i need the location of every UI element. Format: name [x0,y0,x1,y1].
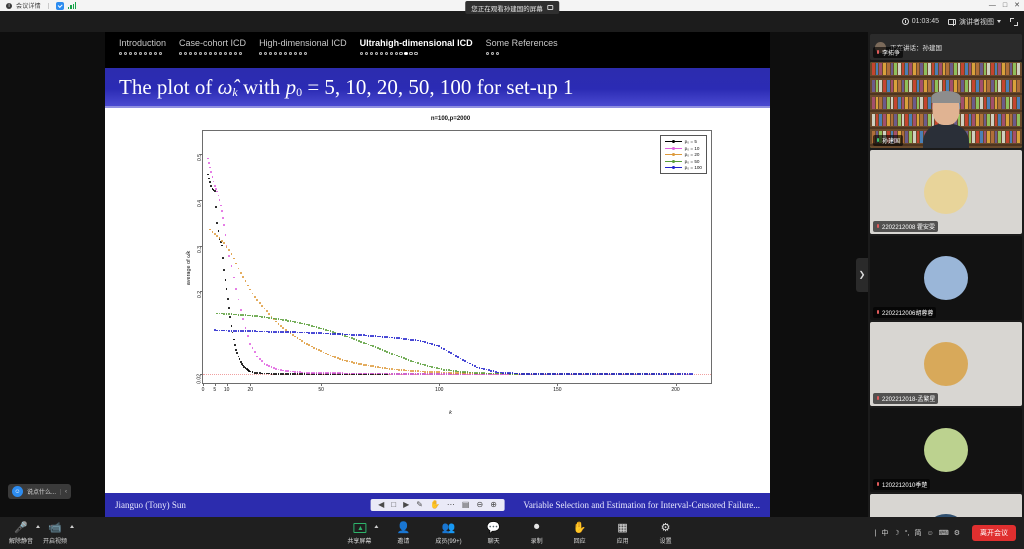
nav-dot[interactable] [404,52,407,55]
slide-body: n=100,p=2000 average of ω̂k k p₀ = 5p₀ =… [105,108,770,517]
data-point [405,338,407,340]
data-point [386,336,388,338]
x-tick-mark [676,383,677,386]
participant-tile[interactable]: 2202212008 霍安雯 [870,150,1022,234]
data-point [687,373,689,375]
microphone-muted-icon: 🎤 [14,521,28,534]
data-point [639,373,641,375]
data-point [301,332,303,334]
ime-punctuation[interactable]: °, [905,530,910,537]
nav-dot[interactable] [380,52,383,55]
data-point [320,332,322,334]
data-point [342,333,344,335]
notification-text: 您正在观看孙建国的屏幕 [471,3,543,13]
stop-show-button[interactable]: □ [391,501,396,509]
reaction-input-pill[interactable]: ☺ 说点什么... ‹ [8,484,71,499]
nav-section-0[interactable]: Introduction [105,38,166,55]
toolbar-reactions-button[interactable]: ✋回应 [569,521,591,545]
nav-section-4[interactable]: Some References [473,38,558,55]
data-point [235,330,237,332]
data-point [372,335,374,337]
title-omega: ω̂ [218,75,233,99]
presentation-controls[interactable]: ◀ □ ▶ ✎ ✋ ⋯ ▤ ⊖ ⊕ [370,499,505,511]
microphone-muted-icon [876,50,880,56]
reactions-icon: ✋ [573,521,587,534]
screen-share-icon [547,5,553,10]
data-point [561,373,563,375]
nav-dot[interactable] [274,52,277,55]
video-off-icon: 📹 [48,521,62,534]
data-point [438,345,440,347]
participant-tile[interactable]: 2202212006胡蓉蓉 [870,236,1022,320]
data-point [554,373,556,375]
data-point [476,367,478,369]
data-point [424,341,426,343]
nav-section-dots [259,52,347,55]
nav-dot[interactable] [159,52,162,55]
data-point [601,373,603,375]
meeting-info-label: 会议详情 [16,1,41,10]
data-point [691,373,693,375]
nav-section-2[interactable]: High-dimensional ICD [246,38,347,55]
gear-icon: ⚙ [661,521,671,534]
data-point [334,333,336,335]
nav-dot[interactable] [179,52,182,55]
nav-section-label: Some References [486,38,558,48]
title-p: p [286,75,297,99]
smiley-icon[interactable]: ☺ [12,486,23,497]
speaker-video-person [923,92,969,148]
participant-tile[interactable]: 1202212010季楚 [870,408,1022,492]
signal-strength-icon[interactable] [68,2,77,9]
participant-name: 2202212008 霍安雯 [882,222,935,231]
title-with: with [238,75,286,99]
data-point [684,373,686,375]
data-point [327,333,329,335]
data-point [542,373,544,375]
microphone-muted-icon [876,224,880,230]
zoom-in-icon[interactable]: ⊕ [490,501,497,509]
ime-cursor: | [875,530,877,537]
data-point [528,373,530,375]
chevron-down-icon[interactable] [997,20,1001,23]
record-icon: ⏺ [534,521,540,534]
x-tick-label: 10 [224,387,230,393]
participant-tile[interactable]: 孙建国 [870,62,1022,148]
x-tick-mark [203,383,204,386]
nav-dot[interactable] [395,52,398,55]
toolbar-button-label: 邀请 [397,536,409,545]
chart-title: n=100,p=2000 [183,116,718,122]
nav-section-dots [119,52,166,55]
x-tick-label: 5 [213,387,216,393]
toolbar-record-button[interactable]: ⏺录制 [526,521,548,545]
data-point [665,373,667,375]
data-point [275,331,277,333]
toolbar-button-label: 录制 [531,536,543,545]
data-point [658,373,660,375]
ime-settings-icon[interactable]: ⚙ [954,529,960,537]
data-point [391,337,393,339]
nav-dot[interactable] [259,52,262,55]
data-point [420,340,422,342]
nav-dot[interactable] [385,52,388,55]
data-point [457,356,459,358]
shared-screen-stage: IntroductionCase-cohort ICDHigh-dimensio… [0,32,868,517]
data-point [557,373,559,375]
view-mode-label: 演讲者视图 [959,17,994,27]
title-prefix: The plot of [119,75,218,99]
data-point [360,334,362,336]
nav-dot[interactable] [209,52,212,55]
toolbar-right-group: | 中 ☽ °, 简 ☺ ⌨ ⚙ 离开会议 [875,525,1016,541]
view-mode-selector[interactable]: 演讲者视图 [948,17,1001,27]
data-point [231,330,233,332]
participant-name-chip: 1202212010季楚 [873,479,930,490]
nav-dot[interactable] [214,52,217,55]
chevron-up-icon[interactable] [70,525,74,528]
fullscreen-icon[interactable] [1010,18,1018,26]
x-tick-mark [227,383,228,386]
notes-icon[interactable]: ▤ [462,501,470,509]
chart-xlabel: k [183,410,718,416]
series-4 [203,131,711,383]
nav-dot[interactable] [124,52,127,55]
zoom-meeting-window: i 会议详情 — □ ✕ 您正在观看孙建国的屏幕 01:03:45 演讲者视图 [0,0,1024,549]
microphone-icon [876,138,880,144]
zoom-out-icon[interactable]: ⊖ [476,501,483,509]
data-point [620,373,622,375]
nav-section-label: High-dimensional ICD [259,38,347,48]
data-point [290,331,292,333]
collapse-reactions-icon[interactable]: ‹ [60,489,67,495]
slide-title-bar: The plot of ω̂k with p0 = 5, 10, 20, 50,… [105,68,770,108]
chart-ylabel: average of ω̂k [186,198,192,338]
meeting-toolbar: 🎤解除静音📹开启视频 共享屏幕👤邀请👥成员(99+)💬聊天⏺录制✋回应▦应用⚙设… [0,517,1024,549]
toolbar-center-group: 共享屏幕👤邀请👥成员(99+)💬聊天⏺录制✋回应▦应用⚙设置 [347,521,676,545]
toolbar-button-label: 聊天 [488,536,500,545]
data-point [653,373,655,375]
nav-dot[interactable] [239,52,242,55]
nav-section-dots [360,52,473,55]
maximize-button[interactable]: □ [1003,2,1007,9]
nav-dot[interactable] [189,52,192,55]
data-point [268,331,270,333]
nav-dot[interactable] [184,52,187,55]
toolbar-participants-button[interactable]: 👥成员(99+) [435,521,461,545]
toolbar-button-label: 开启视频 [43,536,67,545]
data-point [261,331,263,333]
footer-topic: Variable Selection and Estimation for In… [523,500,760,510]
nav-dot[interactable] [375,52,378,55]
data-point [353,334,355,336]
layout-icon [948,19,956,25]
meeting-header-right: 01:03:45 演讲者视图 [902,11,1018,32]
participant-name: 孙建国 [882,136,900,145]
data-point [509,372,511,374]
nav-dot[interactable] [199,52,202,55]
timer-value: 01:03:45 [912,18,939,25]
data-point [308,332,310,334]
nav-section-1[interactable]: Case-cohort ICD [166,38,246,55]
data-point [469,363,471,365]
pen-tool-icon[interactable]: ✎ [416,501,423,509]
nav-dot[interactable] [279,52,282,55]
participant-name-chip: 2202212008 霍安雯 [873,221,938,232]
nav-dot[interactable] [144,52,147,55]
title-values: = 5, 10, 20, 50, 100 for set-up 1 [302,75,573,99]
data-point [535,373,537,375]
data-point [606,373,608,375]
data-point [287,331,289,333]
microphone-muted-icon [876,310,880,316]
data-point [635,373,637,375]
meeting-info-group[interactable]: i 会议详情 [0,1,76,10]
nav-dot[interactable] [269,52,272,55]
participant-name: 李拓争 [882,48,900,57]
data-point [228,330,230,332]
data-point [464,360,466,362]
participant-name: 2202212006胡蓉蓉 [882,308,933,317]
collapse-panel-button[interactable]: ❯ [856,258,868,292]
nav-dot[interactable] [119,52,122,55]
data-point [502,372,504,374]
slide-section-nav: IntroductionCase-cohort ICDHigh-dimensio… [105,32,770,68]
toolbar-chat-button[interactable]: 💬聊天 [483,521,505,545]
nav-dot[interactable] [370,52,373,55]
data-point [223,330,225,332]
more-options-icon[interactable]: ⋯ [447,501,455,509]
data-point [516,373,518,375]
data-point [609,373,611,375]
nav-dot[interactable] [360,52,363,55]
data-point [379,336,381,338]
nav-dot[interactable] [284,52,287,55]
leave-meeting-button[interactable]: 离开会议 [972,525,1016,541]
x-tick-mark [439,383,440,386]
nav-dot[interactable] [496,52,499,55]
data-point [398,337,400,339]
share-screen-icon [353,521,366,534]
nav-dot[interactable] [491,52,494,55]
ime-keyboard-icon[interactable]: ⌨ [939,529,949,537]
data-point [679,373,681,375]
nav-dot[interactable] [139,52,142,55]
participant-tile[interactable]: 2202212018-孟繁星 [870,322,1022,406]
chevron-up-icon[interactable] [36,525,40,528]
nav-section-dots [179,52,246,55]
invite-person-icon: 👤 [397,521,411,534]
nav-dot[interactable] [129,52,132,55]
toolbar-invite-person-button[interactable]: 👤邀请 [392,521,414,545]
nav-section-dots [486,52,558,55]
data-point [549,373,551,375]
screen-share-notification: 您正在观看孙建国的屏幕 [465,1,559,14]
toolbar-button-label: 成员(99+) [435,536,461,545]
data-point [346,334,348,336]
data-point [282,331,284,333]
slide-title: The plot of ω̂k with p0 = 5, 10, 20, 50,… [119,75,573,100]
nav-dot[interactable] [486,52,489,55]
participant-name-chip: 2202212018-孟繁星 [873,393,938,404]
minimize-button[interactable]: — [989,2,996,9]
meeting-header-bar: 01:03:45 演讲者视图 [0,11,1024,32]
meeting-timer: 01:03:45 [902,18,939,25]
data-point [417,340,419,342]
prev-slide-button[interactable]: ◀ [378,501,384,509]
x-tick-label: 200 [671,387,679,393]
toolbar-video-off-button[interactable]: 📹开启视频 [43,521,67,545]
window-controls[interactable]: — □ ✕ [989,0,1020,11]
chat-icon: 💬 [487,521,501,534]
data-point [594,373,596,375]
participant-tile[interactable] [870,494,1022,517]
nav-dot[interactable] [365,52,368,55]
data-point [490,370,492,372]
toolbar-gear-button[interactable]: ⚙设置 [655,521,677,545]
nav-dot[interactable] [234,52,237,55]
data-point [613,373,615,375]
data-point [450,352,452,354]
microphone-muted-icon [876,482,880,488]
toolbar-button-label: 应用 [617,536,629,545]
clock-icon [902,18,909,25]
avatar [924,170,968,214]
chart-plot-area: p₀ = 5p₀ = 10p₀ = 20p₀ = 50p₀ = 100 0.02… [202,130,712,384]
nav-dot[interactable] [390,52,393,55]
toolbar-button-label: 设置 [660,536,672,545]
nav-dot[interactable] [264,52,267,55]
data-point [316,332,318,334]
nav-dot[interactable] [294,52,297,55]
data-point [672,373,674,375]
data-point [294,331,296,333]
data-point [242,330,244,332]
data-point [646,373,648,375]
participant-name: 2202212018-孟繁星 [882,394,935,403]
toolbar-microphone-muted-button[interactable]: 🎤解除静音 [9,521,33,545]
data-point [580,373,582,375]
nav-dot[interactable] [154,52,157,55]
x-tick-mark [250,383,251,386]
ime-simplified[interactable]: 简 [914,528,921,538]
nav-section-label: Introduction [119,38,166,48]
x-tick-label: 100 [435,387,443,393]
data-point [339,333,341,335]
toolbar-button-label: 回应 [574,536,586,545]
nav-dot[interactable] [229,52,232,55]
data-point [256,331,258,333]
data-point [575,373,577,375]
data-point [568,373,570,375]
x-tick-mark [557,383,558,386]
data-point [365,335,367,337]
data-point [531,373,533,375]
shield-icon[interactable] [56,2,64,10]
participant-name-chip: 李拓争 [873,47,903,58]
nav-dot[interactable] [304,52,307,55]
pointer-tool-icon[interactable]: ✋ [430,501,440,509]
data-point [368,335,370,337]
data-point [443,348,445,350]
data-point [313,332,315,334]
data-point [249,330,251,332]
toolbar-button-label: 解除静音 [9,536,33,545]
data-point [472,364,474,366]
data-point [627,373,629,375]
x-tick-label: 150 [553,387,561,393]
data-point [394,337,396,339]
ime-smiley-icon[interactable]: ☺ [926,530,933,537]
avatar [924,428,968,472]
data-point [632,373,634,375]
data-point [216,330,218,332]
data-point [661,373,663,375]
ime-moon-icon[interactable]: ☽ [893,529,899,537]
apps-icon: ▦ [617,521,627,534]
nav-dot[interactable] [219,52,222,55]
nav-section-label: Ultrahigh-dimensional ICD [360,38,473,48]
nav-dot[interactable] [289,52,292,55]
close-button[interactable]: ✕ [1014,2,1020,9]
toolbar-share-screen-button[interactable]: 共享屏幕 [347,521,371,545]
toolbar-left-group: 🎤解除静音📹开启视频 [0,521,67,545]
data-point [446,350,448,352]
avatar [924,256,968,300]
nav-dot[interactable] [224,52,227,55]
data-point [523,373,525,375]
nav-dot[interactable] [414,52,417,55]
divider [48,3,49,9]
footer-author: Jianguo (Tony) Sun [115,500,186,510]
participant-strip: 正在讲话：孙建国李拓争孙建国2202212008 霍安雯2202212006胡蓉… [868,32,1024,517]
x-tick-mark [321,383,322,386]
ime-lang[interactable]: 中 [881,528,888,538]
nav-dot[interactable] [134,52,137,55]
nav-dot[interactable] [399,52,402,55]
next-slide-button[interactable]: ▶ [403,501,409,509]
x-tick-label: 50 [318,387,324,393]
participant-name-chip: 2202212006胡蓉蓉 [873,307,936,318]
toolbar-button-label: 共享屏幕 [347,536,371,545]
data-point [431,343,433,345]
avatar [924,342,968,386]
nav-dot[interactable] [299,52,302,55]
ime-indicator[interactable]: | 中 ☽ °, 简 ☺ ⌨ ⚙ [875,528,964,538]
microphone-muted-icon [876,396,880,402]
toolbar-apps-button[interactable]: ▦应用 [612,521,634,545]
chevron-up-icon[interactable] [374,525,378,528]
x-tick-label: 0 [202,387,205,393]
nav-dot[interactable] [204,52,207,55]
data-point [587,373,589,375]
nav-section-label: Case-cohort ICD [179,38,246,48]
omega-plot: n=100,p=2000 average of ω̂k k p₀ = 5p₀ =… [183,118,718,418]
active-speaker-bar: 正在讲话：孙建国李拓争 [870,34,1022,60]
data-point [497,372,499,374]
info-icon[interactable]: i [6,3,12,9]
x-tick-label: 20 [247,387,253,393]
data-point [483,368,485,370]
data-point [412,339,414,341]
nav-dot[interactable] [409,52,412,55]
x-tick-mark [215,383,216,386]
nav-section-3[interactable]: Ultrahigh-dimensional ICD [347,38,473,55]
nav-dot[interactable] [194,52,197,55]
data-point [583,373,585,375]
participant-name: 1202212010季楚 [882,480,927,489]
nav-dot[interactable] [149,52,152,55]
